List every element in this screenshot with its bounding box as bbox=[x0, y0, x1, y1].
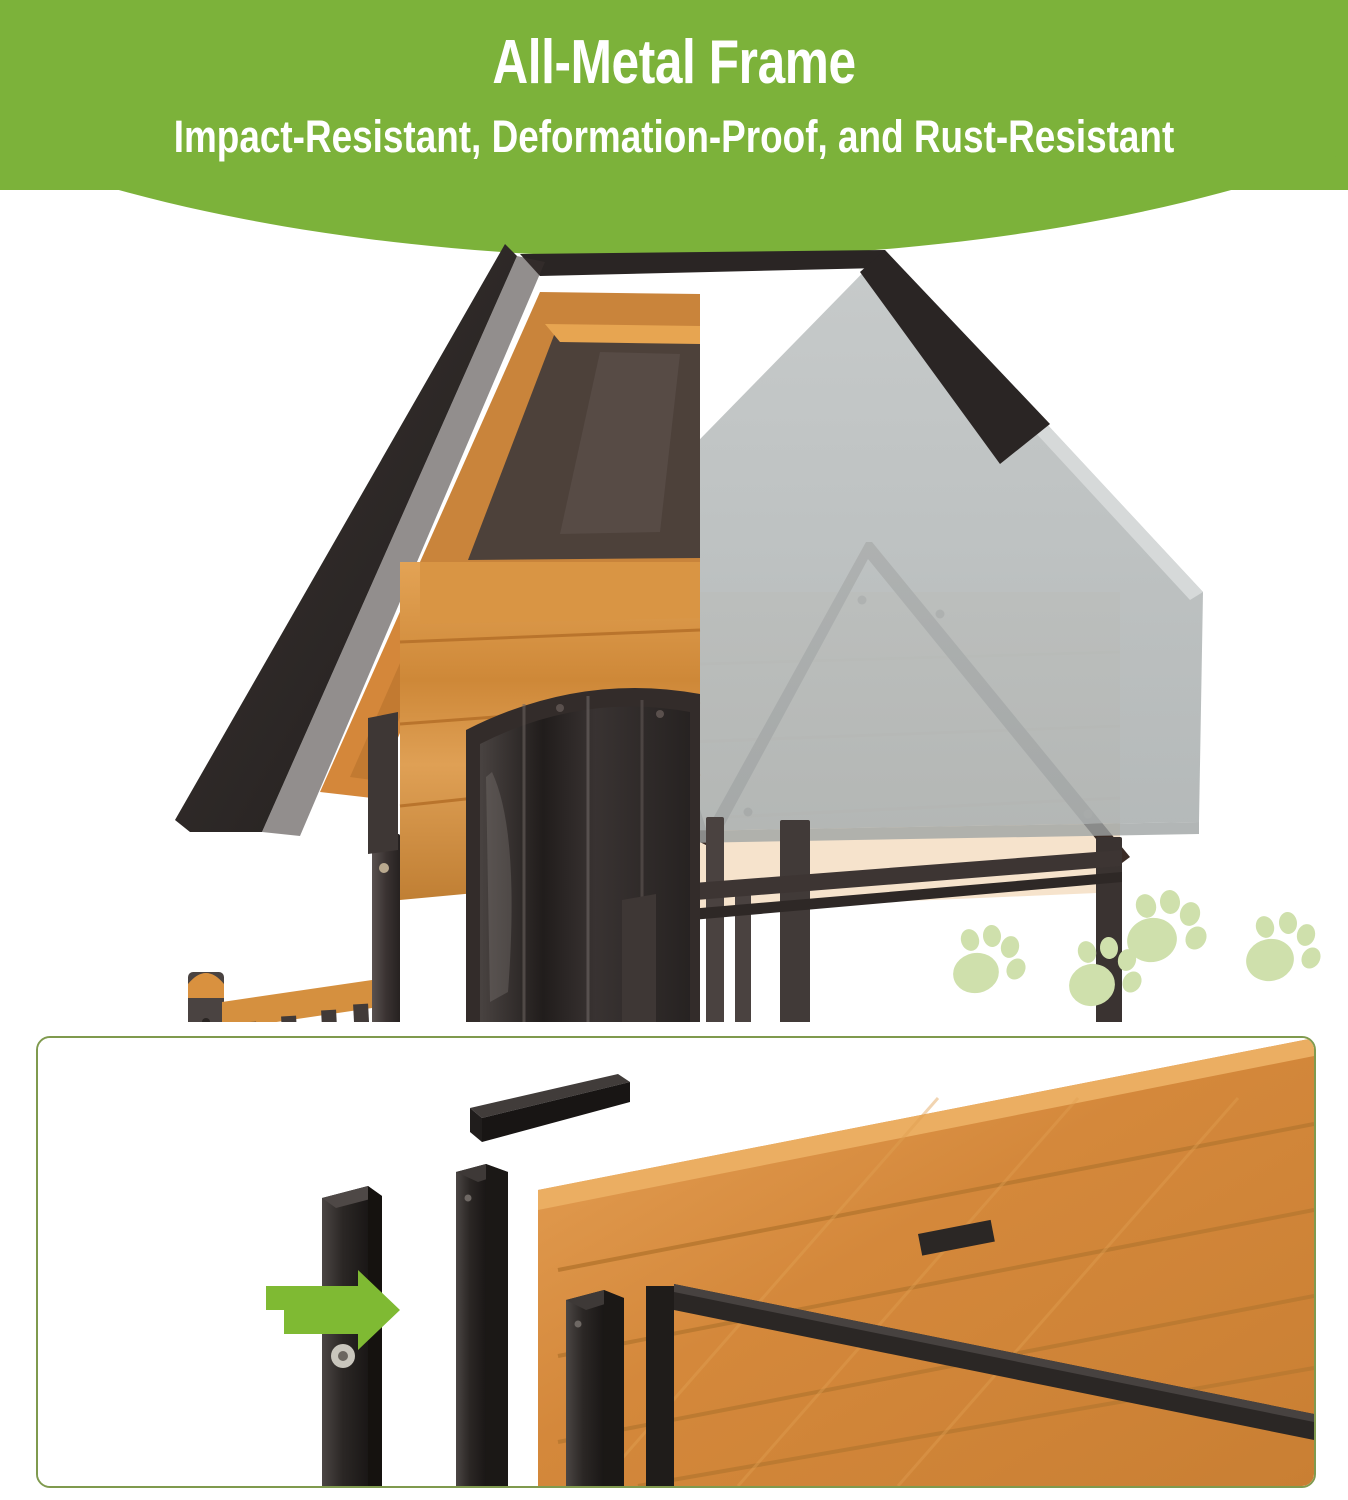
page-subtitle: Impact-Resistant, Deformation-Proof, and… bbox=[121, 112, 1226, 162]
post-screw bbox=[379, 863, 389, 873]
corner-post-upper bbox=[368, 712, 398, 854]
door-opening bbox=[480, 706, 690, 1022]
paw-print bbox=[1123, 890, 1211, 967]
railing-top-rail bbox=[222, 980, 372, 1022]
metal-corner-post bbox=[372, 834, 400, 1022]
gable-band bbox=[420, 562, 700, 624]
post-channel-shadow bbox=[646, 1286, 674, 1486]
window-wood-ledge bbox=[545, 324, 700, 344]
inner-metal-post bbox=[566, 1290, 624, 1486]
installed-metal-post bbox=[456, 1164, 508, 1486]
roof-back-slab bbox=[520, 250, 885, 276]
door-frame-rivet bbox=[556, 704, 564, 712]
front-post-upper bbox=[622, 894, 656, 1022]
door-frame-rivet bbox=[656, 710, 664, 718]
ghost-post bbox=[780, 820, 810, 1022]
paw-print bbox=[1242, 911, 1324, 985]
ghost-post bbox=[706, 817, 724, 1022]
paw-print bbox=[949, 924, 1029, 997]
header-banner: All-Metal Frame Impact-Resistant, Deform… bbox=[0, 0, 1348, 270]
paw-print-trail bbox=[940, 890, 1340, 1040]
loose-metal-post bbox=[322, 1186, 382, 1486]
page-title: All-Metal Frame bbox=[135, 30, 1213, 96]
detail-panel bbox=[36, 1036, 1316, 1488]
